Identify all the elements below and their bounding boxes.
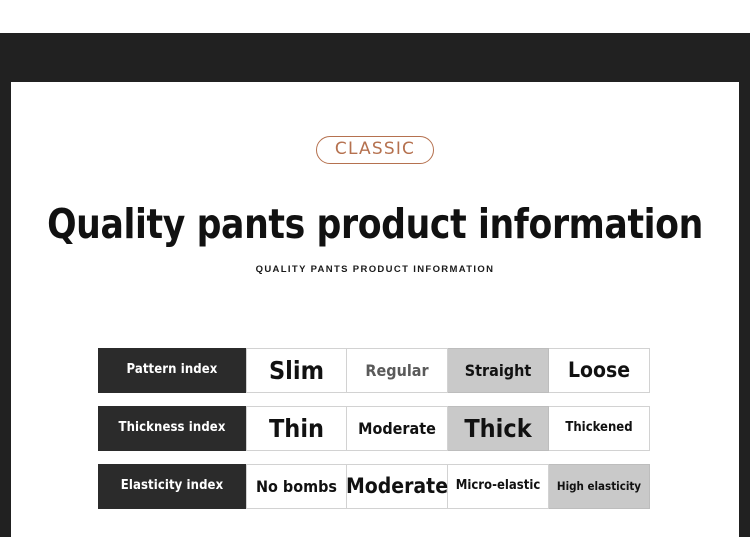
option-cell[interactable]: No bombs	[246, 464, 347, 509]
option-cell[interactable]: Regular	[347, 348, 448, 393]
option-cell[interactable]: Micro-elastic	[448, 464, 549, 509]
option-cell[interactable]: Thin	[246, 406, 347, 451]
badge-container: CLASSIC	[11, 136, 739, 164]
option-cell[interactable]: Moderate	[347, 406, 448, 451]
content-card: CLASSIC Quality pants product informatio…	[11, 82, 739, 537]
row-label: Pattern index	[98, 348, 246, 393]
table-row: Elasticity indexNo bombsModerateMicro-el…	[98, 464, 653, 509]
top-white-strip	[0, 0, 750, 33]
bottom-white-strip	[0, 537, 750, 557]
page-subtitle: QUALITY PANTS PRODUCT INFORMATION	[11, 264, 739, 275]
option-cell[interactable]: Loose	[549, 348, 650, 393]
row-label: Elasticity index	[98, 464, 246, 509]
option-cell[interactable]: Thickened	[549, 406, 650, 451]
row-label: Thickness index	[98, 406, 246, 451]
table-row: Pattern indexSlimRegularStraightLoose	[98, 348, 653, 393]
option-cell-selected[interactable]: Straight	[448, 348, 549, 393]
option-cell[interactable]: Slim	[246, 348, 347, 393]
product-info-page: CLASSIC Quality pants product informatio…	[0, 0, 750, 557]
table-row: Thickness indexThinModerateThickThickene…	[98, 406, 653, 451]
option-cell[interactable]: Moderate	[347, 464, 448, 509]
classic-badge: CLASSIC	[316, 136, 434, 164]
product-attributes-table: Pattern indexSlimRegularStraightLooseThi…	[98, 348, 653, 509]
page-title: Quality pants product information	[33, 200, 717, 248]
option-cell-selected[interactable]: High elasticity	[549, 464, 650, 509]
option-cell-selected[interactable]: Thick	[448, 406, 549, 451]
